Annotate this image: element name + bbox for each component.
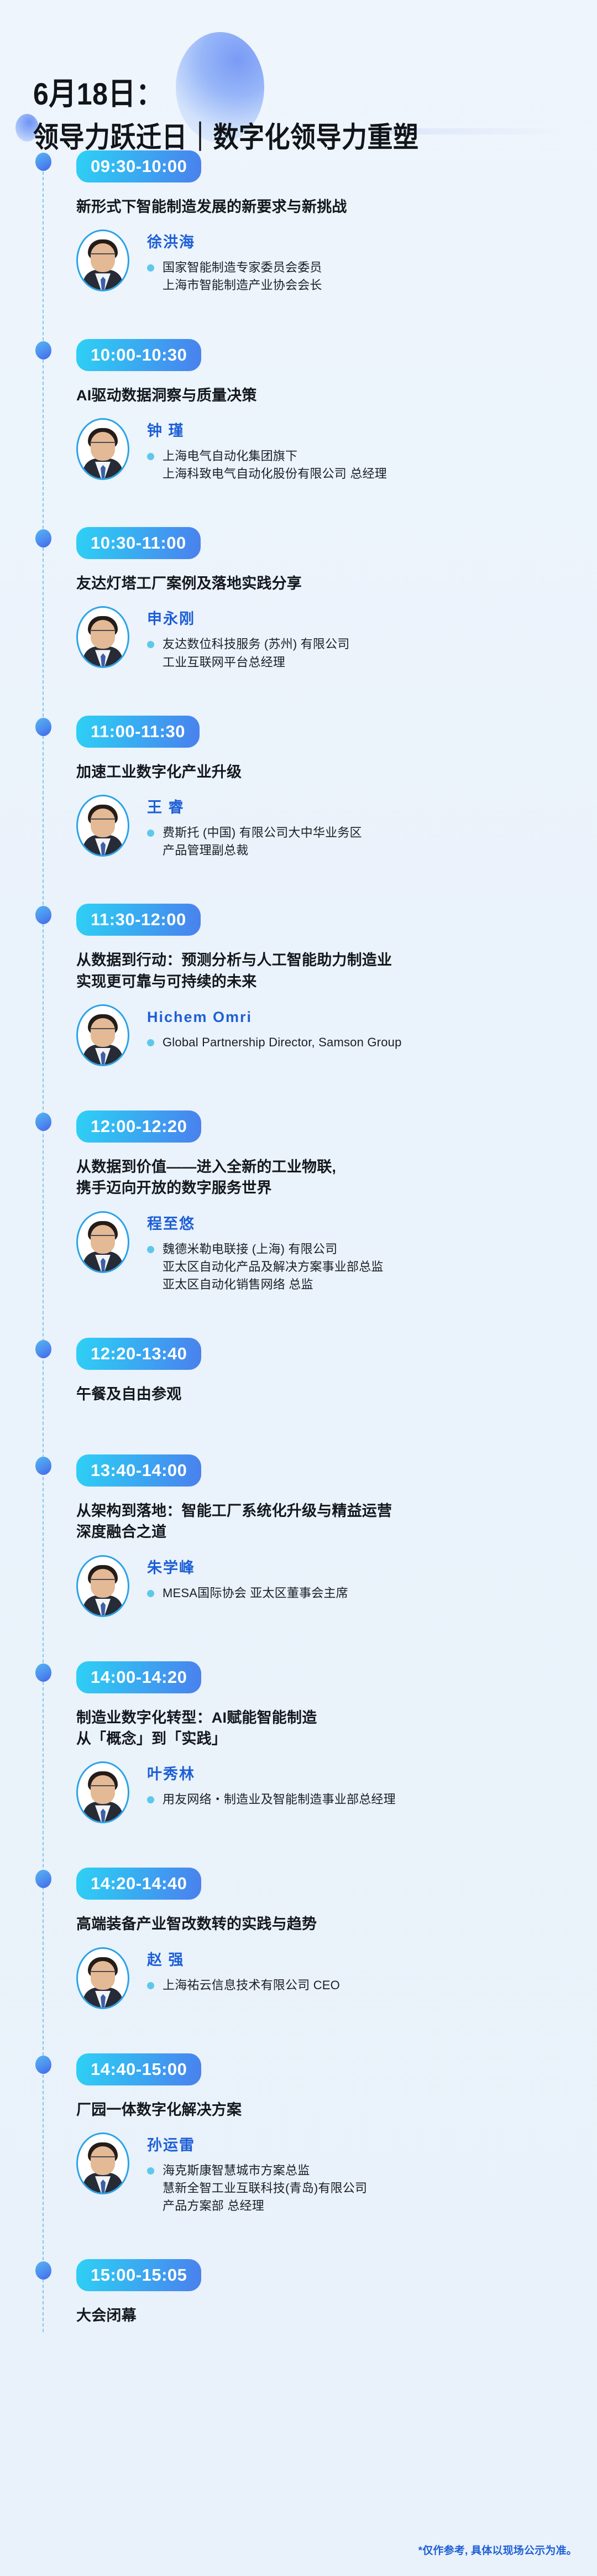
session-title-line: 从数据到行动：预测分析与人工智能助力制造业 xyxy=(76,950,575,971)
avatar-portrait-icon xyxy=(80,611,126,666)
avatar xyxy=(76,1761,129,1823)
page-header: 6月18日： 领导力跃迁日｜数字化领导力重塑 xyxy=(0,0,597,138)
speaker-block: 孙运雷海克斯康智慧城市方案总监慧新全智工业互联科技(青岛)有限公司产品方案部 总… xyxy=(76,2132,575,2215)
speaker-meta: 王 睿费斯托 (中国) 有限公司大中华业务区产品管理副总裁 xyxy=(147,795,362,859)
avatar-portrait-icon xyxy=(80,1952,126,2007)
session-title: 制造业数字化转型：AI赋能智能制造从「概念」到「实践」 xyxy=(76,1707,575,1750)
speaker-affiliation-list: 魏德米勒电联接 (上海) 有限公司亚太区自动化产品及解决方案事业部总监亚太区自动… xyxy=(147,1240,384,1294)
session-title-line: 实现更可靠与可持续的未来 xyxy=(76,971,575,992)
speaker-meta: 朱学峰MESA国际协会 亚太区董事会主席 xyxy=(147,1555,348,1602)
session-time-badge: 14:40-15:00 xyxy=(76,2053,201,2085)
session-title: 厂园一体数字化解决方案 xyxy=(76,2099,575,2120)
page-title-theme: 领导力跃迁日｜数字化领导力重塑 xyxy=(33,105,597,152)
session-title: 从数据到价值——进入全新的工业物联,携手迈向开放的数字服务世界 xyxy=(76,1156,575,1199)
bullet-dot-icon xyxy=(147,641,154,648)
speaker-affiliation-list: 国家智能制造专家委员会委员上海市智能制造产业协会会长 xyxy=(147,259,322,294)
bullet-dot-icon xyxy=(147,1039,154,1046)
agenda-item[interactable]: 11:00-11:30加速工业数字化产业升级王 睿费斯托 (中国) 有限公司大中… xyxy=(0,690,597,879)
session-title: 大会闭幕 xyxy=(76,2305,575,2326)
speaker-name: 申永刚 xyxy=(147,612,349,627)
session-time-badge: 15:00-15:05 xyxy=(76,2259,201,2291)
speaker-affiliation: 海克斯康智慧城市方案总监 xyxy=(163,2162,367,2179)
speaker-affiliation: 用友网络・制造业及智能制造事业部总经理 xyxy=(163,1791,396,1808)
session-title-line: 深度融合之道 xyxy=(76,1521,575,1542)
speaker-affiliation-list: 上海电气自动化集团旗下上海科致电气自动化股份有限公司 总经理 xyxy=(147,447,387,483)
speaker-affiliation-list: 友达数位科技服务 (苏州) 有限公司工业互联网平台总经理 xyxy=(147,635,349,671)
speaker-affiliation-list: 用友网络・制造业及智能制造事业部总经理 xyxy=(147,1791,396,1808)
speaker-affiliation: 费斯托 (中国) 有限公司大中华业务区 xyxy=(163,824,362,842)
session-title-line: 友达灯塔工厂案例及落地实践分享 xyxy=(76,573,575,594)
speaker-affiliation: 魏德米勒电联接 (上海) 有限公司 xyxy=(163,1240,384,1258)
speaker-block: 叶秀林用友网络・制造业及智能制造事业部总经理 xyxy=(76,1761,575,1823)
avatar-portrait-icon xyxy=(80,1216,126,1271)
speaker-name: 赵 强 xyxy=(147,1953,340,1968)
timeline-dot-icon xyxy=(35,2261,51,2280)
agenda-item[interactable]: 14:00-14:20制造业数字化转型：AI赋能智能制造从「概念」到「实践」叶秀… xyxy=(0,1636,597,1843)
session-time-badge: 11:00-11:30 xyxy=(76,716,200,748)
speaker-name: 钟 瑾 xyxy=(147,424,387,439)
speaker-affiliation: 产品方案部 总经理 xyxy=(163,2197,367,2215)
speaker-name: 孙运雷 xyxy=(147,2138,367,2153)
speaker-meta: 钟 瑾上海电气自动化集团旗下上海科致电气自动化股份有限公司 总经理 xyxy=(147,418,387,483)
speaker-affiliation: 产品管理副总裁 xyxy=(163,842,362,859)
avatar xyxy=(76,606,129,668)
session-title-line: 厂园一体数字化解决方案 xyxy=(76,2099,575,2120)
session-title-line: 携手迈向开放的数字服务世界 xyxy=(76,1177,575,1198)
bullet-dot-icon xyxy=(147,453,154,460)
speaker-block: 程至悠魏德米勒电联接 (上海) 有限公司亚太区自动化产品及解决方案事业部总监亚太… xyxy=(76,1211,575,1294)
speaker-block: 徐洪海国家智能制造专家委员会委员上海市智能制造产业协会会长 xyxy=(76,230,575,294)
speaker-block: Hichem OmriGlobal Partnership Director, … xyxy=(76,1004,575,1066)
session-title-line: 制造业数字化转型：AI赋能智能制造 xyxy=(76,1707,575,1728)
timeline-dot-icon xyxy=(35,718,51,736)
session-title: 新形式下智能制造发展的新要求与新挑战 xyxy=(76,196,575,217)
session-time-badge: 14:20-14:40 xyxy=(76,1868,201,1900)
agenda-item[interactable]: 14:20-14:40高端装备产业智改数转的实践与趋势赵 强上海祐云信息技术有限… xyxy=(0,1842,597,2027)
agenda-item[interactable]: 15:00-15:05大会闭幕 xyxy=(0,2234,597,2350)
avatar xyxy=(76,2132,129,2194)
session-time-badge: 12:00-12:20 xyxy=(76,1110,201,1143)
agenda-item[interactable]: 14:40-15:00厂园一体数字化解决方案孙运雷海克斯康智慧城市方案总监慧新全… xyxy=(0,2028,597,2234)
agenda-item[interactable]: 10:30-11:00友达灯塔工厂案例及落地实践分享申永刚友达数位科技服务 (苏… xyxy=(0,502,597,690)
agenda-item[interactable]: 11:30-12:00从数据到行动：预测分析与人工智能助力制造业实现更可靠与可持… xyxy=(0,878,597,1085)
speaker-meta: 申永刚友达数位科技服务 (苏州) 有限公司工业互联网平台总经理 xyxy=(147,606,349,671)
speaker-meta: 叶秀林用友网络・制造业及智能制造事业部总经理 xyxy=(147,1761,396,1808)
speaker-affiliation-list: 海克斯康智慧城市方案总监慧新全智工业互联科技(青岛)有限公司产品方案部 总经理 xyxy=(147,2162,367,2215)
agenda-item[interactable]: 10:00-10:30AI驱动数据洞察与质量决策钟 瑾上海电气自动化集团旗下上海… xyxy=(0,314,597,502)
speaker-affiliation: 上海市智能制造产业协会会长 xyxy=(163,277,322,294)
session-time-badge: 09:30-10:00 xyxy=(76,150,201,182)
speaker-affiliation: Global Partnership Director, Samson Grou… xyxy=(163,1034,402,1051)
speaker-meta: Hichem OmriGlobal Partnership Director, … xyxy=(147,1004,402,1051)
avatar-portrait-icon xyxy=(80,1560,126,1615)
avatar xyxy=(76,795,129,857)
session-title: 从数据到行动：预测分析与人工智能助力制造业实现更可靠与可持续的未来 xyxy=(76,950,575,992)
session-title-line: 午餐及自由参观 xyxy=(76,1384,575,1405)
speaker-name: Hichem Omri xyxy=(147,1010,402,1025)
session-time-badge: 14:00-14:20 xyxy=(76,1661,201,1693)
session-title: 从架构到落地：智能工厂系统化升级与精益运营深度融合之道 xyxy=(76,1500,575,1543)
session-title-line: 从数据到价值——进入全新的工业物联, xyxy=(76,1156,575,1177)
session-time-badge: 11:30-12:00 xyxy=(76,904,201,936)
bullet-dot-icon xyxy=(147,830,154,837)
bullet-dot-icon xyxy=(147,1246,154,1253)
avatar xyxy=(76,1555,129,1617)
session-title-line: AI驱动数据洞察与质量决策 xyxy=(76,385,575,406)
speaker-meta: 孙运雷海克斯康智慧城市方案总监慧新全智工业互联科技(青岛)有限公司产品方案部 总… xyxy=(147,2132,367,2215)
speaker-affiliation-list: 费斯托 (中国) 有限公司大中华业务区产品管理副总裁 xyxy=(147,824,362,859)
speaker-affiliation: 友达数位科技服务 (苏州) 有限公司 xyxy=(163,635,349,653)
timeline-dot-icon xyxy=(35,1340,51,1358)
timeline-dot-icon xyxy=(35,153,51,171)
agenda-item[interactable]: 12:00-12:20从数据到价值——进入全新的工业物联,携手迈向开放的数字服务… xyxy=(0,1085,597,1312)
speaker-name: 朱学峰 xyxy=(147,1561,348,1576)
session-title: 加速工业数字化产业升级 xyxy=(76,762,575,783)
avatar xyxy=(76,1947,129,2009)
page-title-date: 6月18日： xyxy=(33,0,597,109)
speaker-affiliation-list: MESA国际协会 亚太区董事会主席 xyxy=(147,1584,348,1602)
timeline-dot-icon xyxy=(35,1870,51,1888)
speaker-name: 程至悠 xyxy=(147,1217,384,1232)
session-title: 高端装备产业智改数转的实践与趋势 xyxy=(76,1913,575,1934)
avatar-portrait-icon xyxy=(80,800,126,855)
session-title-line: 新形式下智能制造发展的新要求与新挑战 xyxy=(76,196,575,217)
speaker-block: 钟 瑾上海电气自动化集团旗下上海科致电气自动化股份有限公司 总经理 xyxy=(76,418,575,483)
session-title: 午餐及自由参观 xyxy=(76,1384,575,1405)
avatar-portrait-icon xyxy=(80,423,126,478)
timeline-dot-icon xyxy=(35,906,51,924)
speaker-meta: 徐洪海国家智能制造专家委员会委员上海市智能制造产业协会会长 xyxy=(147,230,322,294)
agenda-page: 6月18日： 领导力跃迁日｜数字化领导力重塑 09:30-10:00新形式下智能… xyxy=(0,0,597,2576)
bullet-dot-icon xyxy=(147,264,154,272)
speaker-affiliation-list: 上海祐云信息技术有限公司 CEO xyxy=(147,1977,340,1994)
speaker-affiliation: 国家智能制造专家委员会委员 xyxy=(163,259,322,277)
session-title-line: 大会闭幕 xyxy=(76,2305,575,2326)
session-time-badge: 12:20-13:40 xyxy=(76,1338,201,1370)
speaker-name: 王 睿 xyxy=(147,800,362,815)
speaker-affiliation: 上海科致电气自动化股份有限公司 总经理 xyxy=(163,465,387,483)
speaker-affiliation: 工业互联网平台总经理 xyxy=(163,654,349,671)
session-title-line: 从「概念」到「实践」 xyxy=(76,1728,575,1749)
timeline-dot-icon xyxy=(35,1664,51,1682)
avatar-portrait-icon xyxy=(80,2137,126,2193)
agenda-item[interactable]: 13:40-14:00从架构到落地：智能工厂系统化升级与精益运营深度融合之道朱学… xyxy=(0,1429,597,1636)
bullet-dot-icon xyxy=(147,1982,154,1989)
agenda-item[interactable]: 09:30-10:00新形式下智能制造发展的新要求与新挑战徐洪海国家智能制造专家… xyxy=(0,138,597,314)
speaker-block: 王 睿费斯托 (中国) 有限公司大中华业务区产品管理副总裁 xyxy=(76,795,575,859)
speaker-block: 申永刚友达数位科技服务 (苏州) 有限公司工业互联网平台总经理 xyxy=(76,606,575,671)
agenda-item[interactable]: 12:20-13:40午餐及自由参观 xyxy=(0,1312,597,1429)
speaker-block: 赵 强上海祐云信息技术有限公司 CEO xyxy=(76,1947,575,2009)
timeline-dot-icon xyxy=(35,529,51,547)
session-time-badge: 10:30-11:00 xyxy=(76,527,201,559)
avatar-portrait-icon xyxy=(80,1766,126,1822)
avatar xyxy=(76,230,129,291)
timeline-dot-icon xyxy=(35,1457,51,1475)
timeline-dot-icon xyxy=(35,1113,51,1131)
speaker-name: 叶秀林 xyxy=(147,1767,396,1782)
speaker-affiliation: 亚太区自动化产品及解决方案事业部总监 xyxy=(163,1258,384,1276)
speaker-name: 徐洪海 xyxy=(147,235,322,250)
session-title-line: 加速工业数字化产业升级 xyxy=(76,762,575,783)
timeline-dot-icon xyxy=(35,341,51,359)
speaker-block: 朱学峰MESA国际协会 亚太区董事会主席 xyxy=(76,1555,575,1617)
session-title-line: 高端装备产业智改数转的实践与趋势 xyxy=(76,1913,575,1934)
session-time-badge: 10:00-10:30 xyxy=(76,339,201,371)
avatar xyxy=(76,418,129,480)
session-title: AI驱动数据洞察与质量决策 xyxy=(76,385,575,406)
session-title: 友达灯塔工厂案例及落地实践分享 xyxy=(76,573,575,594)
disclaimer-note: *仅作参考, 具体以现场公示为准。 xyxy=(418,2542,577,2557)
avatar-portrait-icon xyxy=(80,234,126,290)
agenda-timeline: 09:30-10:00新形式下智能制造发展的新要求与新挑战徐洪海国家智能制造专家… xyxy=(0,138,597,2417)
speaker-affiliation: MESA国际协会 亚太区董事会主席 xyxy=(163,1584,348,1602)
bullet-dot-icon xyxy=(147,2167,154,2175)
avatar xyxy=(76,1004,129,1066)
speaker-affiliation: 上海电气自动化集团旗下 xyxy=(163,447,387,465)
speaker-affiliation-list: Global Partnership Director, Samson Grou… xyxy=(147,1034,402,1051)
session-title-line: 从架构到落地：智能工厂系统化升级与精益运营 xyxy=(76,1500,575,1521)
speaker-affiliation: 慧新全智工业互联科技(青岛)有限公司 xyxy=(163,2179,367,2197)
speaker-meta: 赵 强上海祐云信息技术有限公司 CEO xyxy=(147,1947,340,1994)
speaker-meta: 程至悠魏德米勒电联接 (上海) 有限公司亚太区自动化产品及解决方案事业部总监亚太… xyxy=(147,1211,384,1294)
bullet-dot-icon xyxy=(147,1796,154,1803)
avatar-portrait-icon xyxy=(80,1009,126,1065)
speaker-affiliation: 上海祐云信息技术有限公司 CEO xyxy=(163,1977,340,1994)
timeline-dot-icon xyxy=(35,2056,51,2074)
session-time-badge: 13:40-14:00 xyxy=(76,1454,201,1487)
avatar xyxy=(76,1211,129,1273)
bullet-dot-icon xyxy=(147,1590,154,1597)
speaker-affiliation: 亚太区自动化销售网络 总监 xyxy=(163,1276,384,1294)
